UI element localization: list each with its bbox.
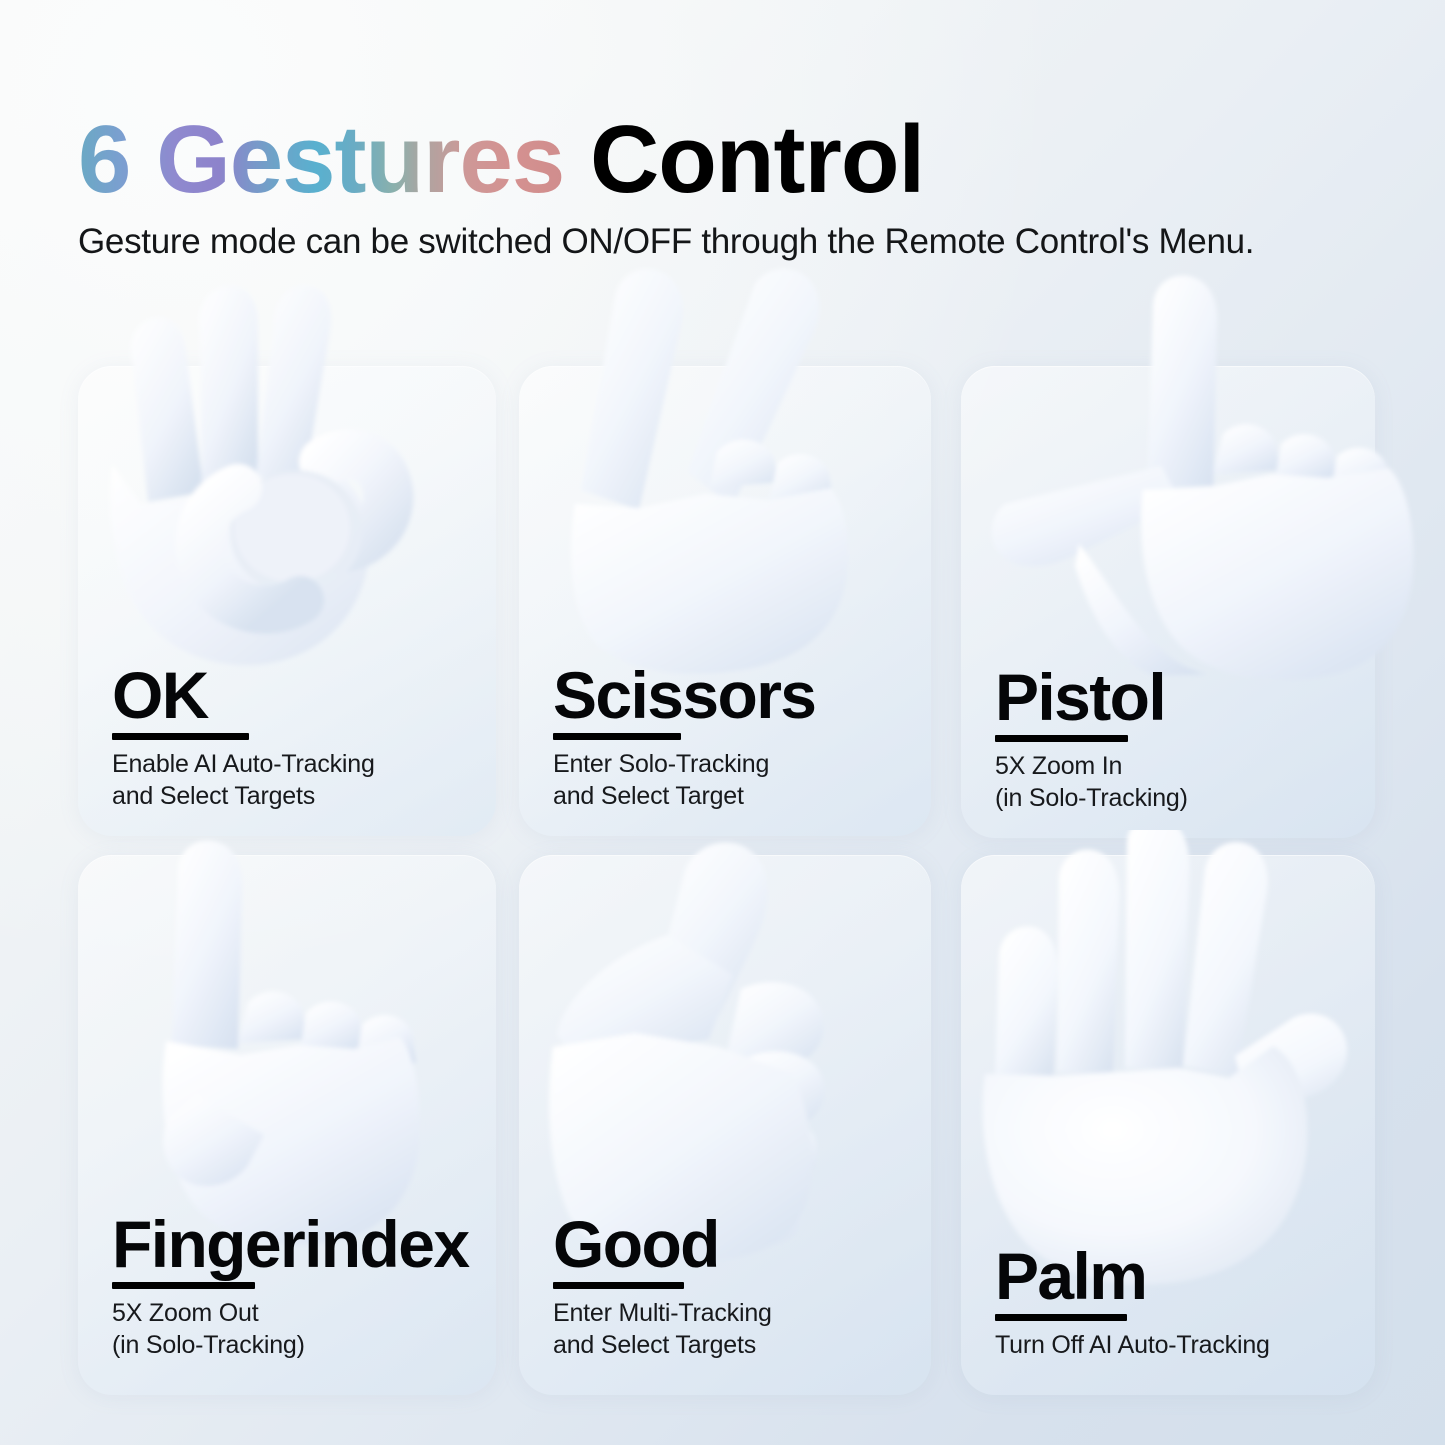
card-description-fingerindex: 5X Zoom Out (in Solo-Tracking) [112, 1297, 480, 1361]
card-title-pistol: Pistol [995, 664, 1359, 731]
card-description-palm: Turn Off AI Auto-Tracking [995, 1329, 1359, 1361]
card-title-palm: Palm [995, 1243, 1359, 1310]
gesture-card-fingerindex[interactable]: Fingerindex 5X Zoom Out (in Solo-Trackin… [78, 855, 496, 1395]
card-description-scissors: Enter Solo-Tracking and Select Target [553, 748, 915, 812]
ok-hand-icon [78, 256, 496, 686]
card-text-good: Good Enter Multi-Tracking and Select Tar… [553, 1211, 915, 1361]
gesture-card-palm[interactable]: Palm Turn Off AI Auto-Tracking [961, 855, 1375, 1395]
card-title-fingerindex: Fingerindex [112, 1211, 480, 1278]
title-underline [112, 733, 249, 740]
title-underline [995, 735, 1128, 742]
card-text-fingerindex: Fingerindex 5X Zoom Out (in Solo-Trackin… [112, 1211, 480, 1361]
gesture-card-pistol[interactable]: Pistol 5X Zoom In (in Solo-Tracking) [961, 366, 1375, 838]
card-description-pistol: 5X Zoom In (in Solo-Tracking) [995, 750, 1359, 814]
gesture-control-infographic: 6 Gestures Control Gesture mode can be s… [0, 0, 1445, 1445]
card-text-palm: Palm Turn Off AI Auto-Tracking [995, 1243, 1359, 1361]
title-underline [553, 733, 681, 740]
card-title-scissors: Scissors [553, 662, 915, 729]
scissors-hand-icon [519, 256, 931, 686]
title-underline [995, 1314, 1127, 1321]
card-title-good: Good [553, 1211, 915, 1278]
gesture-card-good[interactable]: Good Enter Multi-Tracking and Select Tar… [519, 855, 931, 1395]
card-text-pistol: Pistol 5X Zoom In (in Solo-Tracking) [995, 664, 1359, 814]
card-text-scissors: Scissors Enter Solo-Tracking and Select … [553, 662, 915, 812]
title-underline [553, 1282, 684, 1289]
card-description-ok: Enable AI Auto-Tracking and Select Targe… [112, 748, 480, 812]
card-title-ok: OK [112, 662, 480, 729]
gesture-card-grid: OK Enable AI Auto-Tracking and Select Ta… [0, 0, 1445, 1445]
card-description-good: Enter Multi-Tracking and Select Targets [553, 1297, 915, 1361]
pistol-hand-icon [961, 266, 1375, 696]
card-text-ok: OK Enable AI Auto-Tracking and Select Ta… [112, 662, 480, 812]
gesture-card-ok[interactable]: OK Enable AI Auto-Tracking and Select Ta… [78, 366, 496, 836]
palm-hand-icon [961, 830, 1375, 1300]
title-underline [112, 1282, 255, 1289]
gesture-card-scissors[interactable]: Scissors Enter Solo-Tracking and Select … [519, 366, 931, 836]
